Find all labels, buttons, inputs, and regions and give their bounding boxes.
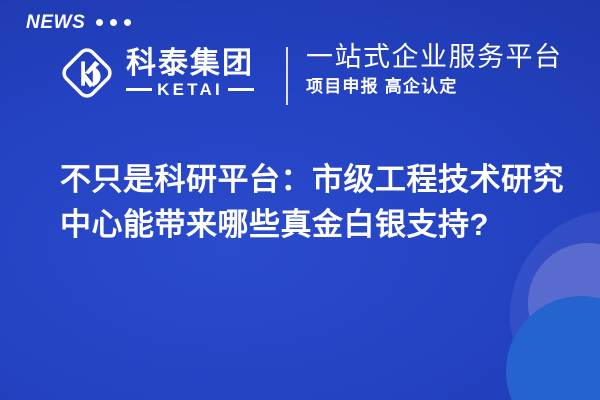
- ketai-diamond-k-logo-icon: [58, 44, 116, 102]
- slogan-sub: 项目申报 高企认定: [306, 78, 563, 97]
- brand-name-en-row: KETAI: [126, 81, 254, 98]
- news-dot-icon: [96, 19, 103, 26]
- decorative-circle-periwinkle: [528, 243, 600, 363]
- headline: 不只是科研平台：市级工程技术研究中心能带来哪些真金白银支持?: [60, 158, 570, 248]
- decorative-circle-blue: [506, 296, 600, 400]
- brand-lockup: 科泰集团 KETAI: [58, 44, 254, 102]
- brand-rule-left: [126, 88, 152, 91]
- news-dot-icon: [124, 19, 131, 26]
- brand-divider: [286, 47, 288, 105]
- slogan-main: 一站式企业服务平台: [306, 42, 563, 72]
- news-banner: NEWS 科泰集团: [0, 0, 600, 400]
- news-dot-icon: [110, 19, 117, 26]
- brand-name-en: KETAI: [157, 81, 223, 98]
- brand-name-cn: 科泰集团: [126, 48, 254, 80]
- brand-text: 科泰集团 KETAI: [126, 48, 254, 98]
- brand-rule-right: [228, 88, 254, 91]
- slogan-block: 一站式企业服务平台 项目申报 高企认定: [306, 42, 563, 97]
- news-dots: [96, 19, 131, 26]
- news-label: NEWS: [26, 13, 85, 32]
- news-strip: NEWS: [26, 13, 131, 32]
